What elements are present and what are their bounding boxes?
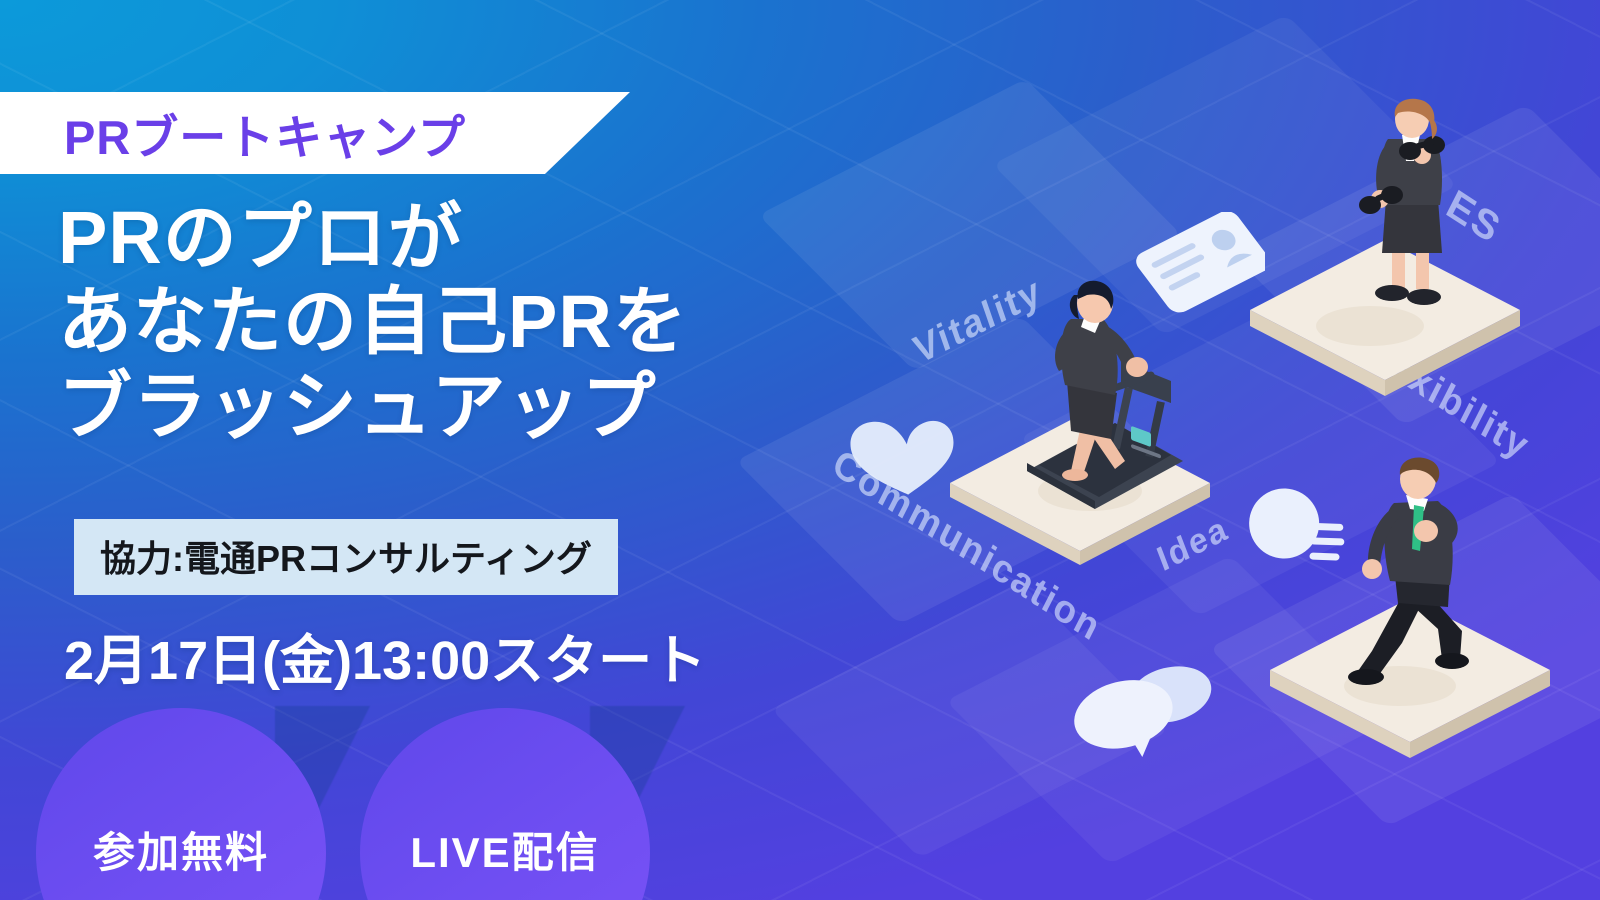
woman-on-treadmill [975,275,1215,510]
ribbon-label: PRブートキャンプ [64,99,466,168]
promo-banner: PRブートキャンプ PRのプロが あなたの自己PRを ブラッシュアップ 協力:電… [0,0,1600,900]
badge-live-stream-label: LIVE配信 [410,819,599,880]
event-datetime: 2月17日(金)13:00スタート [64,616,706,695]
woman-with-dumbbells [1330,95,1490,310]
heart-icon [842,395,962,505]
headline-line-3: ブラッシュアップ [58,365,688,449]
chat-bubbles-icon [1065,655,1225,765]
headline-line-2: あなたの自己PRを [58,280,688,364]
isometric-illustration: Vitality Communication Idea ES Flexibili… [780,0,1600,900]
badge-free-entry-label: 参加無料 [93,819,269,880]
man-stretching [1310,455,1530,690]
feature-circles: 参加無料 LIVE配信 [0,700,760,900]
event-series-ribbon: PRブートキャンプ [0,92,630,174]
partner-badge: 協力:電通PRコンサルティング [74,519,618,595]
page-title: PRのプロが あなたの自己PRを ブラッシュアップ [58,196,688,449]
headline-line-1: PRのプロが [58,196,688,280]
